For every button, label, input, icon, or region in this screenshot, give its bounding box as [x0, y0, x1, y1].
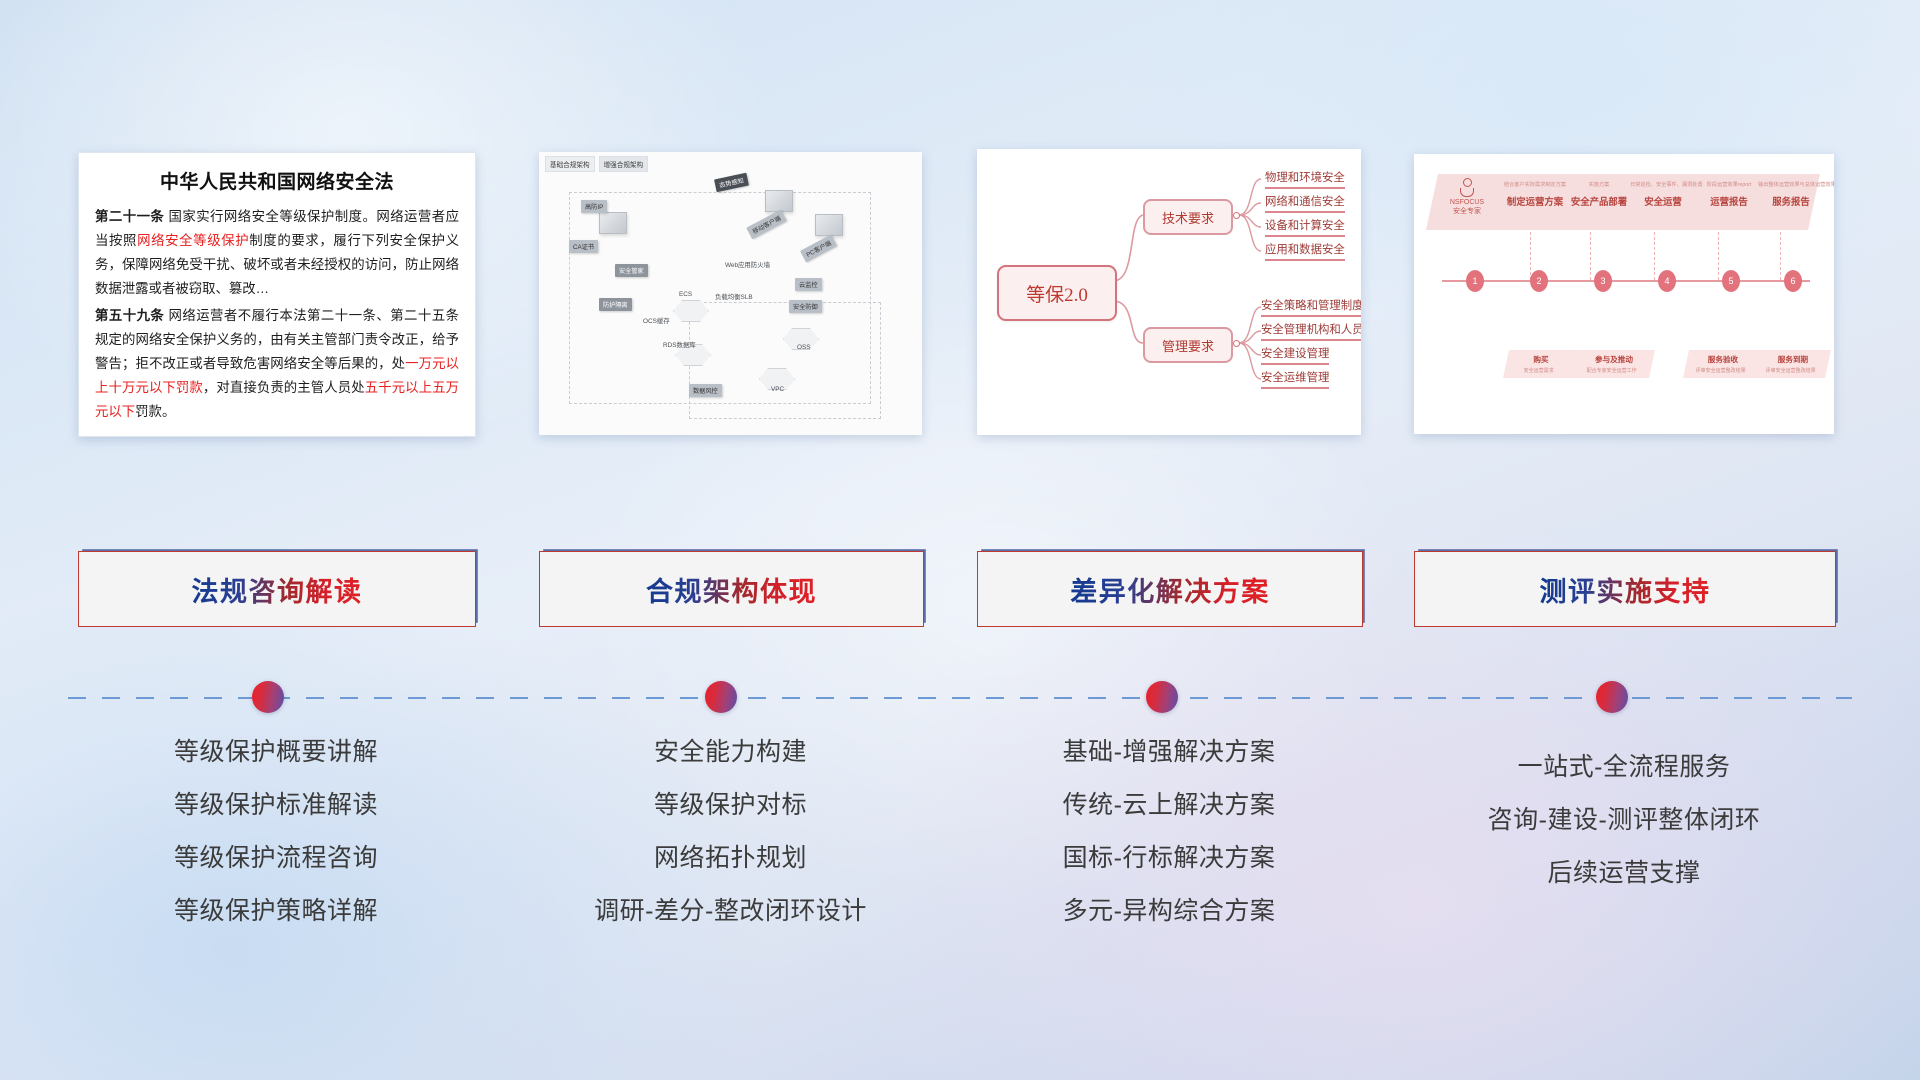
flow-number-4: 4	[1658, 270, 1676, 292]
law-article-59: 第五十九条 网络运营者不履行本法第二十一条、第二十五条规定的网络安全保护义务的，…	[95, 304, 459, 423]
arch-node-ddos: 高防IP	[581, 200, 607, 213]
arch-node-cloud-monitor: 云监控	[795, 278, 822, 291]
flow-chip-purchase-title: 购买	[1513, 354, 1569, 365]
arch-label-ocs: OCS缓存	[643, 316, 670, 325]
arch-label-web-firewall: Web应用防火墙	[725, 260, 770, 269]
mindmap-core-node: 等保2.0	[997, 265, 1117, 321]
card-dengbao-mindmap: 等保2.0 技术要求 物理和环境安全 网络和通信安全 设备和计算安全 应用和数据…	[977, 149, 1361, 435]
flow-chip-participate: 参与及推动 配合专家安全运营工作	[1571, 350, 1655, 378]
feature-list-1: 等级保护概要讲解 等级保护标准解读 等级保护流程咨询 等级保护策略详解	[78, 740, 474, 952]
flow-step-1-title: 制定运营方案	[1502, 194, 1568, 208]
pillar-header-3[interactable]: 差异化解决方案	[977, 551, 1363, 627]
arch-node-security-center: 态势感知	[714, 173, 749, 193]
flow-chip-purchase-sub: 安全运营需求	[1511, 367, 1567, 374]
mindmap-branch-management: 管理要求	[1143, 327, 1233, 363]
list-item: 等级保护对标	[539, 793, 922, 818]
flow-tick-5	[1780, 232, 1782, 280]
architecture-tabs: 基础合规架构 增强合规架构	[545, 156, 648, 172]
flow-step-4-sub: 阶段运营效果report	[1696, 182, 1762, 189]
flow-number-6: 6	[1784, 270, 1802, 292]
feature-list-2: 安全能力构建 等级保护对标 网络拓扑规划 调研-差分-整改闭环设计	[539, 740, 922, 952]
flow-number-2: 2	[1530, 270, 1548, 292]
flow-tick-3	[1654, 232, 1656, 280]
list-item: 基础-增强解决方案	[977, 740, 1361, 765]
mindmap-leaf-security-org: 安全管理机构和人员	[1261, 321, 1361, 341]
flow-step-3-title: 安全运营	[1630, 194, 1696, 208]
flow-chip-expiry-sub: 评审安全运营整改结果	[1761, 367, 1821, 374]
law-article-21: 第二十一条 国家实行网络安全等级保护制度。网络运营者应当按照网络安全等级保护制度…	[95, 205, 459, 300]
mindmap-leaf-application-security: 应用和数据安全	[1265, 241, 1345, 261]
mindmap-leaf-device-security: 设备和计算安全	[1265, 217, 1345, 237]
card-service-flow: NSFOCUS 安全专家 结合客户实际需求制定方案 制定运营方案 实施方案 安全…	[1414, 154, 1834, 434]
flow-chip-participate-sub: 配合专家安全运营工作	[1579, 367, 1645, 374]
pillar-title-2: 合规架构体现	[646, 570, 817, 609]
pillar-header-2[interactable]: 合规架构体现	[539, 551, 924, 627]
mindmap-branch-dot-management	[1233, 340, 1240, 347]
arch-node-security-defense: 安全防御	[789, 300, 822, 313]
list-item: 网络拓扑规划	[539, 846, 922, 871]
slide-canvas: 中华人民共和国网络安全法 第二十一条 国家实行网络安全等级保护制度。网络运营者应…	[0, 0, 1920, 1080]
flow-chip-acceptance-sub: 评审安全运营整改结果	[1691, 367, 1751, 374]
law-document: 中华人民共和国网络安全法 第二十一条 国家实行网络安全等级保护制度。网络运营者应…	[79, 153, 475, 436]
mindmap-leaf-construction-mgmt: 安全建设管理	[1261, 345, 1329, 365]
article-21-highlight: 网络安全等级保护	[137, 233, 249, 248]
timeline-dot-2[interactable]	[705, 681, 737, 713]
flow-step-1: 结合客户实际需求制定方案 制定运营方案	[1502, 182, 1568, 208]
expert-role: 安全专家	[1440, 207, 1494, 216]
flow-step-3-sub: 日常巡检、安全事件、漏洞处置	[1630, 182, 1696, 189]
list-item: 咨询-建设-测评整体闭环	[1414, 808, 1834, 833]
flow-step-3: 日常巡检、安全事件、漏洞处置 安全运营	[1630, 182, 1696, 208]
flow-chip-acceptance-title: 服务验收	[1693, 354, 1753, 365]
flow-step-4-title: 运营报告	[1696, 194, 1762, 208]
arch-label-rds: RDS数据库	[663, 340, 696, 349]
arch-cube-waf	[599, 212, 627, 234]
timeline-dot-4[interactable]	[1596, 681, 1628, 713]
architecture-diagram: 基础合规架构 增强合规架构 态势感知 高防IP CA证书 移动客户端 PC客户端…	[539, 152, 922, 435]
arch-label-ecs: ECS	[679, 291, 692, 298]
flow-chip-participate-title: 参与及推动	[1581, 354, 1647, 365]
architecture-tab-enhanced: 增强合规架构	[599, 156, 649, 172]
flow-step-1-sub: 结合客户实际需求制定方案	[1502, 182, 1568, 189]
timeline-dot-1[interactable]	[252, 681, 284, 713]
pillar-title-3: 差异化解决方案	[1070, 570, 1270, 609]
architecture-tab-basic: 基础合规架构	[545, 156, 595, 172]
pillar-header-4[interactable]: 测评实施支持	[1414, 551, 1836, 627]
arch-node-security-guard: 安全管家	[615, 264, 648, 277]
arch-cube-mobile	[765, 190, 793, 212]
article-21-label: 第二十一条	[95, 209, 164, 224]
flow-step-2-sub: 实施方案	[1566, 182, 1632, 189]
timeline-dashed-line	[68, 697, 1852, 699]
reference-cards-row: 中华人民共和国网络安全法 第二十一条 国家实行网络安全等级保护制度。网络运营者应…	[0, 0, 1920, 440]
mindmap-leaf-network-security: 网络和通信安全	[1265, 193, 1345, 213]
flow-number-5: 5	[1722, 270, 1740, 292]
mindmap-branch-technical: 技术要求	[1143, 199, 1233, 235]
expert-brand: NSFOCUS	[1440, 198, 1494, 207]
law-title: 中华人民共和国网络安全法	[95, 167, 459, 194]
arch-cube-pc	[815, 214, 843, 236]
flow-step-2: 实施方案 安全产品部署	[1566, 182, 1632, 208]
flow-step-5: 输出整体运营效果与总体运营效果 服务报告	[1758, 182, 1824, 208]
person-icon	[1459, 178, 1475, 197]
article-59-label: 第五十九条	[95, 308, 164, 323]
mindmap-branch-dot-technical	[1233, 212, 1240, 219]
list-item: 传统-云上解决方案	[977, 793, 1361, 818]
list-item: 多元-异构综合方案	[977, 899, 1361, 924]
card-compliance-architecture: 基础合规架构 增强合规架构 态势感知 高防IP CA证书 移动客户端 PC客户端…	[539, 152, 922, 435]
arch-node-risk-control: 数据风控	[689, 384, 722, 397]
flow-number-1: 1	[1466, 270, 1484, 292]
article-59-text-3: 罚款。	[135, 404, 175, 419]
mindmap: 等保2.0 技术要求 物理和环境安全 网络和通信安全 设备和计算安全 应用和数据…	[977, 149, 1361, 435]
list-item: 国标-行标解决方案	[977, 846, 1361, 871]
list-item: 等级保护流程咨询	[78, 846, 474, 871]
arch-node-protection: 防护隔离	[599, 298, 632, 311]
feature-list-3: 基础-增强解决方案 传统-云上解决方案 国标-行标解决方案 多元-异构综合方案	[977, 740, 1361, 952]
flow-step-5-title: 服务报告	[1758, 194, 1824, 208]
pillar-header-1[interactable]: 法规咨询解读	[78, 551, 476, 627]
mindmap-leaf-ops-mgmt: 安全运维管理	[1261, 369, 1329, 389]
feature-list-4: 一站式-全流程服务 咨询-建设-测评整体闭环 后续运营支撑	[1414, 755, 1834, 914]
pillar-title-1: 法规咨询解读	[192, 570, 363, 609]
list-item: 等级保护标准解读	[78, 793, 474, 818]
timeline-dot-3[interactable]	[1146, 681, 1178, 713]
arch-label-oss: OSS	[797, 344, 811, 351]
arch-label-vpc: VPC	[771, 386, 784, 393]
flow-chip-expiry: 服务到期 评审安全运营整改结果	[1753, 350, 1831, 378]
article-59-text-2: ，对直接负责的主管人员处	[203, 380, 365, 395]
list-item: 后续运营支撑	[1414, 861, 1834, 886]
architecture-zone-inner	[689, 302, 881, 419]
arch-label-slb: 负载均衡SLB	[715, 292, 753, 301]
arch-node-ca: CA证书	[569, 240, 598, 253]
service-flow-diagram: NSFOCUS 安全专家 结合客户实际需求制定方案 制定运营方案 实施方案 安全…	[1414, 154, 1834, 434]
list-item: 等级保护概要讲解	[78, 740, 474, 765]
flow-step-4: 阶段运营效果report 运营报告	[1696, 182, 1762, 208]
list-item: 等级保护策略详解	[78, 899, 474, 924]
flow-axis-line	[1442, 280, 1810, 282]
expert-badge: NSFOCUS 安全专家	[1440, 178, 1494, 217]
flow-chip-purchase: 购买 安全运营需求	[1503, 350, 1577, 378]
mindmap-leaf-physical-security: 物理和环境安全	[1265, 169, 1345, 189]
pillar-title-4: 测评实施支持	[1540, 570, 1711, 609]
flow-chip-acceptance: 服务验收 评审安全运营整改结果	[1683, 350, 1761, 378]
flow-step-2-title: 安全产品部署	[1566, 194, 1632, 208]
flow-tick-2	[1590, 232, 1592, 280]
card-cybersecurity-law: 中华人民共和国网络安全法 第二十一条 国家实行网络安全等级保护制度。网络运营者应…	[78, 152, 476, 437]
list-item: 一站式-全流程服务	[1414, 755, 1834, 780]
list-item: 调研-差分-整改闭环设计	[539, 899, 922, 924]
flow-step-5-sub: 输出整体运营效果与总体运营效果	[1758, 182, 1824, 189]
mindmap-leaf-security-policy: 安全策略和管理制度	[1261, 297, 1361, 317]
flow-chip-expiry-title: 服务到期	[1763, 354, 1823, 365]
flow-tick-4	[1718, 232, 1720, 280]
flow-number-3: 3	[1594, 270, 1612, 292]
list-item: 安全能力构建	[539, 740, 922, 765]
